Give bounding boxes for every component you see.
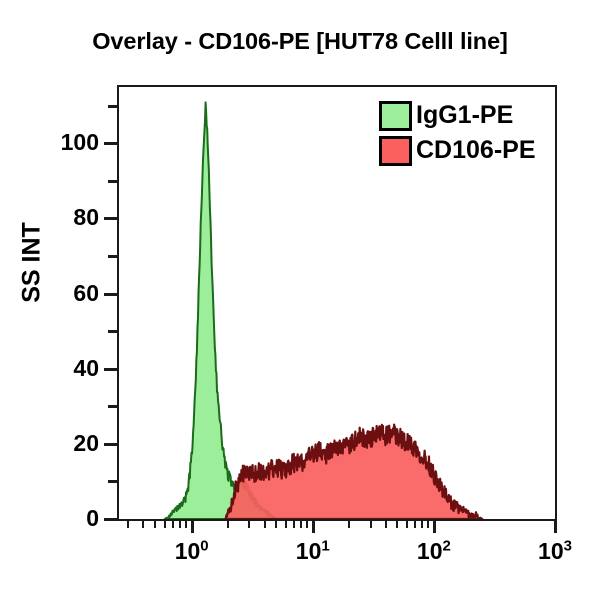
x-tick-minor bbox=[370, 521, 372, 528]
x-tick-minor bbox=[285, 521, 287, 528]
x-tick-minor bbox=[306, 521, 308, 528]
x-tick-major-1e3 bbox=[554, 521, 557, 533]
x-tick-minor bbox=[427, 521, 429, 528]
x-tick-minor bbox=[172, 521, 174, 528]
legend-swatch-igg1-pe bbox=[379, 101, 412, 131]
legend-item-cd106-pe[interactable]: CD106-PE bbox=[379, 133, 555, 168]
chart-title: Overlay - CD106-PE [HUT78 Celll line] bbox=[0, 28, 600, 55]
y-tick-label-100: 100 bbox=[39, 131, 99, 154]
y-tick-minor-10 bbox=[108, 480, 117, 483]
x-tick-minor bbox=[348, 521, 350, 528]
x-tick-minor bbox=[385, 521, 387, 528]
x-tick-minor bbox=[300, 521, 302, 528]
x-tick-minor bbox=[179, 521, 181, 528]
y-tick-label-20: 20 bbox=[39, 432, 99, 455]
x-tick-major-1e0 bbox=[191, 521, 194, 533]
legend: IgG1-PE CD106-PE bbox=[379, 96, 555, 170]
legend-label-cd106-pe: CD106-PE bbox=[416, 138, 536, 163]
y-tick-major-20 bbox=[104, 443, 117, 446]
y-tick-label-40: 40 bbox=[39, 357, 99, 380]
y-tick-label-80: 80 bbox=[39, 206, 99, 229]
x-tick-label-1e1: 101 bbox=[268, 538, 358, 565]
y-tick-major-80 bbox=[104, 217, 117, 220]
x-tick-minor bbox=[227, 521, 229, 528]
y-tick-minor-30 bbox=[108, 405, 117, 408]
x-tick-minor bbox=[275, 521, 277, 528]
y-tick-major-0 bbox=[104, 518, 117, 521]
x-tick-minor bbox=[264, 521, 266, 528]
x-tick-minor bbox=[142, 521, 144, 528]
x-tick-label-1e0: 100 bbox=[147, 538, 237, 565]
y-tick-minor-90 bbox=[108, 180, 117, 183]
legend-swatch-cd106-pe bbox=[379, 136, 412, 166]
y-tick-label-60: 60 bbox=[39, 282, 99, 305]
y-tick-label-0: 0 bbox=[39, 507, 99, 530]
y-tick-major-100 bbox=[104, 142, 117, 145]
y-tick-minor-110 bbox=[108, 105, 117, 108]
chart-page: Overlay - CD106-PE [HUT78 Celll line] SS… bbox=[0, 0, 600, 600]
y-tick-minor-50 bbox=[108, 330, 117, 333]
x-tick-major-1e1 bbox=[312, 521, 315, 533]
x-tick-minor bbox=[127, 521, 129, 528]
x-tick-minor bbox=[293, 521, 295, 528]
x-tick-minor bbox=[248, 521, 250, 528]
x-tick-minor bbox=[185, 521, 187, 528]
y-tick-minor-70 bbox=[108, 255, 117, 258]
legend-label-igg1-pe: IgG1-PE bbox=[416, 103, 513, 128]
histogram-igg1-pe bbox=[165, 102, 277, 519]
y-tick-major-60 bbox=[104, 293, 117, 296]
legend-item-igg1-pe[interactable]: IgG1-PE bbox=[379, 98, 555, 133]
x-tick-label-1e2: 102 bbox=[389, 538, 479, 565]
x-tick-major-1e2 bbox=[433, 521, 436, 533]
x-tick-minor bbox=[396, 521, 398, 528]
x-tick-minor bbox=[154, 521, 156, 528]
x-tick-label-1e3: 103 bbox=[510, 538, 600, 565]
x-tick-minor bbox=[406, 521, 408, 528]
histogram-cd106-pe bbox=[225, 425, 482, 519]
y-tick-major-40 bbox=[104, 368, 117, 371]
x-tick-minor bbox=[164, 521, 166, 528]
x-tick-minor bbox=[414, 521, 416, 528]
x-tick-minor bbox=[421, 521, 423, 528]
